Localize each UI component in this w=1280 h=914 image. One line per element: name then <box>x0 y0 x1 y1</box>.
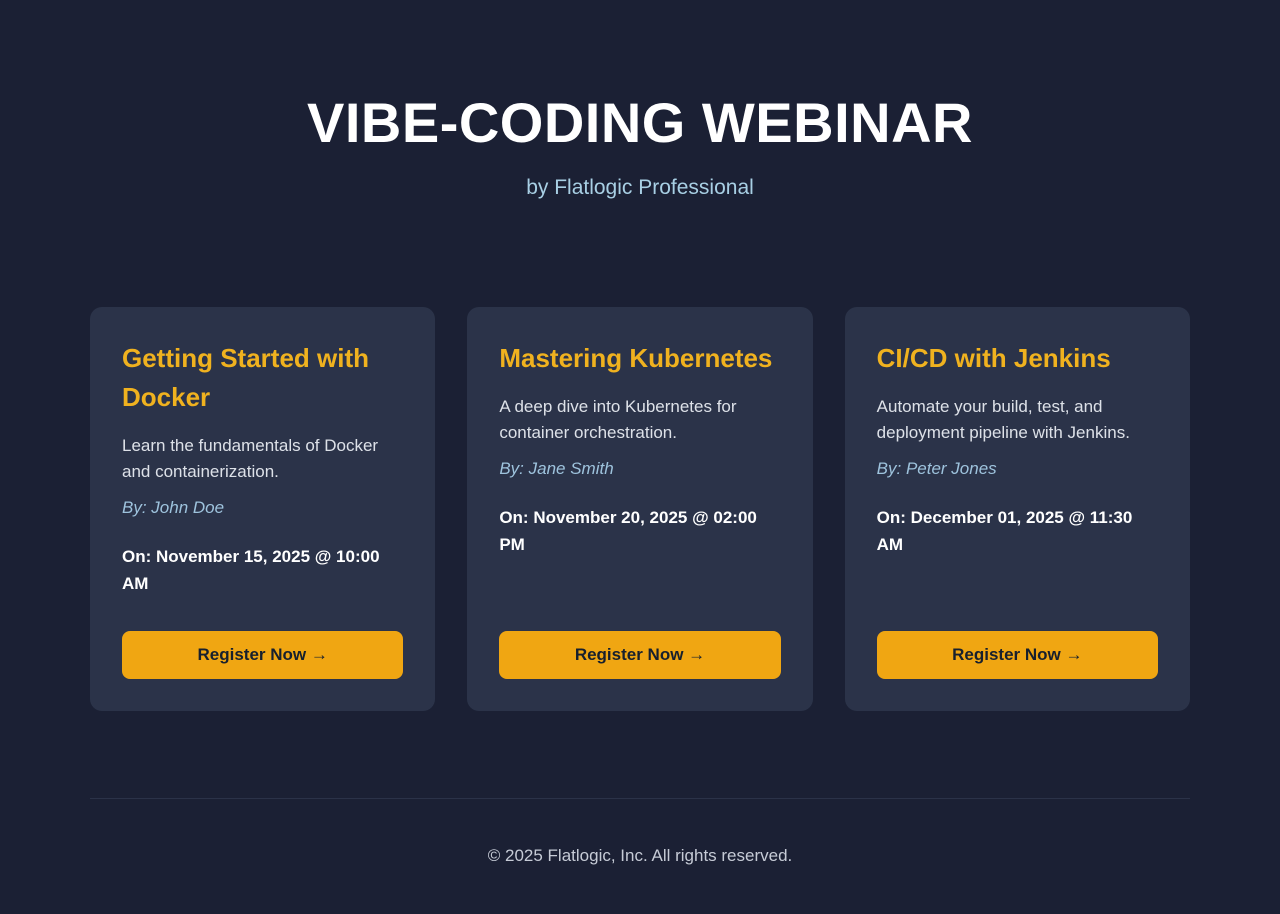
card-spacer <box>877 582 1158 631</box>
webinar-landing-page: VIBE-CODING WEBINAR by Flatlogic Profess… <box>0 0 1280 914</box>
webinar-description: A deep dive into Kubernetes for containe… <box>499 394 780 446</box>
footer-copyright: © 2025 Flatlogic, Inc. All rights reserv… <box>0 845 1280 867</box>
webinar-date: On: December 01, 2025 @ 11:30 AM <box>877 504 1158 558</box>
webinar-author: By: John Doe <box>122 495 403 521</box>
webinar-description: Learn the fundamentals of Docker and con… <box>122 433 403 485</box>
register-now-button[interactable]: Register Now → <box>122 631 403 679</box>
card-spacer <box>499 582 780 631</box>
register-now-button[interactable]: Register Now → <box>877 631 1158 679</box>
webinar-card: Getting Started with Docker Learn the fu… <box>90 307 435 711</box>
page-footer: © 2025 Flatlogic, Inc. All rights reserv… <box>0 798 1280 914</box>
webinar-title: Mastering Kubernetes <box>499 339 780 378</box>
page-title: VIBE-CODING WEBINAR <box>0 92 1280 154</box>
webinar-author: By: Peter Jones <box>877 456 1158 482</box>
card-spacer <box>122 621 403 631</box>
footer-divider <box>90 798 1190 799</box>
register-now-button[interactable]: Register Now → <box>499 631 780 679</box>
webinar-date: On: November 20, 2025 @ 02:00 PM <box>499 504 780 558</box>
webinar-card: CI/CD with Jenkins Automate your build, … <box>845 307 1190 711</box>
webinar-description: Automate your build, test, and deploymen… <box>877 394 1158 446</box>
webinar-author: By: Jane Smith <box>499 456 780 482</box>
webinar-title: Getting Started with Docker <box>122 339 403 417</box>
webinar-date: On: November 15, 2025 @ 10:00 AM <box>122 543 403 597</box>
webinar-title: CI/CD with Jenkins <box>877 339 1158 378</box>
webinar-card: Mastering Kubernetes A deep dive into Ku… <box>467 307 812 711</box>
page-header: VIBE-CODING WEBINAR by Flatlogic Profess… <box>0 0 1280 202</box>
page-subtitle: by Flatlogic Professional <box>0 174 1280 202</box>
webinar-card-list: Getting Started with Docker Learn the fu… <box>90 307 1190 711</box>
